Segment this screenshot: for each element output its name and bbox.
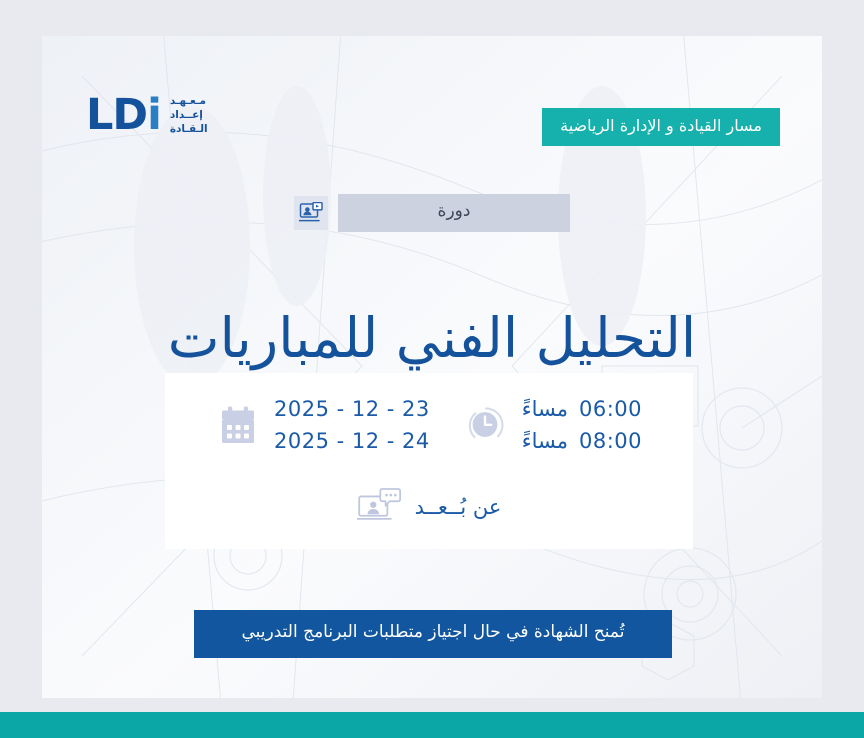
logo-mark-ld: LD xyxy=(86,94,147,137)
details-top-row: 06:00 مساءً 08:00 مساءً xyxy=(165,373,693,457)
time-group: 06:00 مساءً 08:00 مساءً xyxy=(464,394,642,457)
time-value: 06:00 xyxy=(579,394,642,424)
time-value: 08:00 xyxy=(579,426,642,456)
page-title: التحليل الفني للمباريات xyxy=(42,301,822,375)
delivery-mode-label: عن بُــعــد xyxy=(415,495,502,519)
poster-card: LDi مـعـهـد إعــداد الـقـادة مسار القياد… xyxy=(42,36,822,698)
date-values: 2025 - 12 - 23 2025 - 12 - 24 xyxy=(274,394,430,457)
logo-wordmark: LDi xyxy=(86,94,161,137)
online-laptop-icon xyxy=(357,485,401,529)
logo-word-line-2: إعــداد xyxy=(170,109,203,122)
footer-teal-strip xyxy=(0,712,864,738)
time-row: 08:00 مساءً xyxy=(522,426,642,456)
date-group: 2025 - 12 - 23 2025 - 12 - 24 xyxy=(216,394,430,457)
ldi-logo: LDi مـعـهـد إعــداد الـقـادة xyxy=(86,94,208,137)
calendar-icon xyxy=(216,403,260,447)
logo-word-line-1: مـعـهـد xyxy=(170,95,206,108)
webinar-presenter-icon xyxy=(294,196,328,230)
time-period: مساءً xyxy=(522,426,568,456)
logo-mark-i: i xyxy=(147,94,161,137)
date-value: 2025 - 12 - 24 xyxy=(274,426,430,456)
course-type-label: دورة xyxy=(338,194,570,232)
logo-arabic-name: مـعـهـد إعــداد الـقـادة xyxy=(170,95,208,136)
time-period: مساءً xyxy=(522,394,568,424)
time-values: 06:00 مساءً 08:00 مساءً xyxy=(522,394,642,457)
clock-icon xyxy=(464,403,508,447)
details-bottom-row: عن بُــعــد xyxy=(165,485,693,529)
details-card: 06:00 مساءً 08:00 مساءً xyxy=(165,373,693,549)
certificate-banner: تُمنح الشهادة في حال اجتياز متطلبات البر… xyxy=(194,610,672,658)
time-row: 06:00 مساءً xyxy=(522,394,642,424)
track-badge: مسار القيادة و الإدارة الرياضية xyxy=(542,108,780,146)
date-value: 2025 - 12 - 23 xyxy=(274,394,430,424)
course-type-row: دورة xyxy=(42,194,822,232)
logo-word-line-3: الـقـادة xyxy=(170,123,208,136)
